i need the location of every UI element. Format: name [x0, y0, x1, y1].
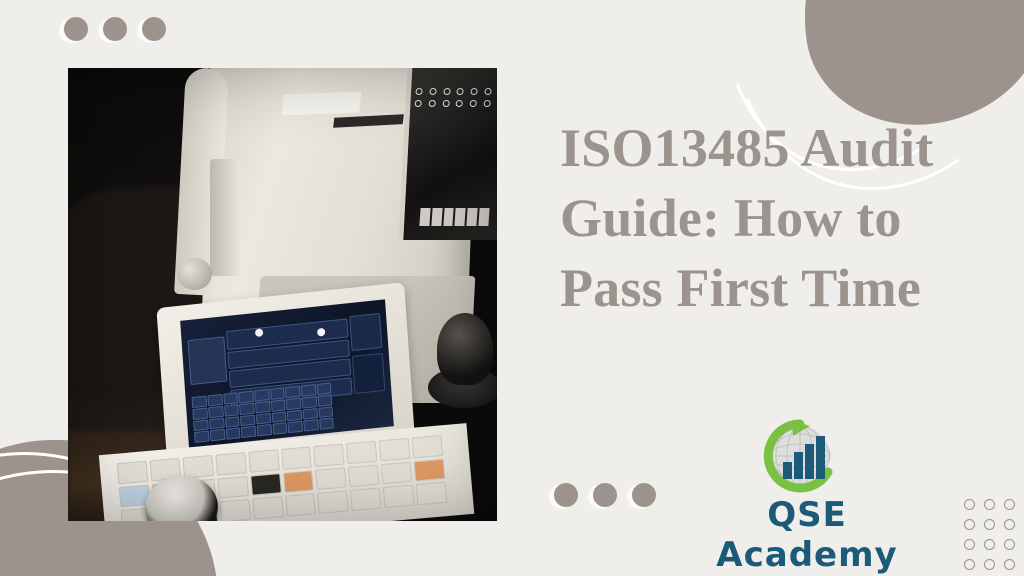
ring-dot	[1004, 519, 1015, 530]
dot	[630, 483, 655, 508]
page-title: ISO13485 Audit Guide: How to Pass First …	[560, 113, 980, 323]
dot	[591, 483, 616, 508]
title-line-3: Pass First Time	[560, 253, 980, 323]
photo-vignette	[68, 68, 497, 521]
ring-dot	[964, 539, 975, 550]
ring-dot	[964, 499, 975, 510]
ring-dot	[984, 539, 995, 550]
ring-dot-grid	[964, 499, 1024, 576]
dot	[552, 483, 577, 508]
slide-canvas: ISO13485 Audit Guide: How to Pass First …	[0, 0, 1024, 576]
ring-dot	[1004, 499, 1015, 510]
title-line-2: Guide: How to	[560, 183, 980, 253]
title-line-1: ISO13485 Audit	[560, 113, 980, 183]
brand-logo: QSE Academy	[676, 417, 938, 535]
dots-mid-right	[552, 483, 655, 508]
ring-dot	[984, 499, 995, 510]
ring-dot	[964, 559, 975, 570]
ring-dot	[1004, 559, 1015, 570]
ring-dot	[984, 519, 995, 530]
ring-dot	[964, 519, 975, 530]
device-photo	[68, 68, 497, 521]
ring-dot	[1004, 539, 1015, 550]
dot	[62, 17, 87, 42]
dot	[101, 17, 126, 42]
dot	[140, 17, 165, 42]
ring-dot	[984, 559, 995, 570]
dots-top-left	[62, 17, 165, 42]
brand-name: QSE Academy	[676, 495, 938, 575]
globe-bar-chart-arrow-icon	[748, 417, 852, 495]
